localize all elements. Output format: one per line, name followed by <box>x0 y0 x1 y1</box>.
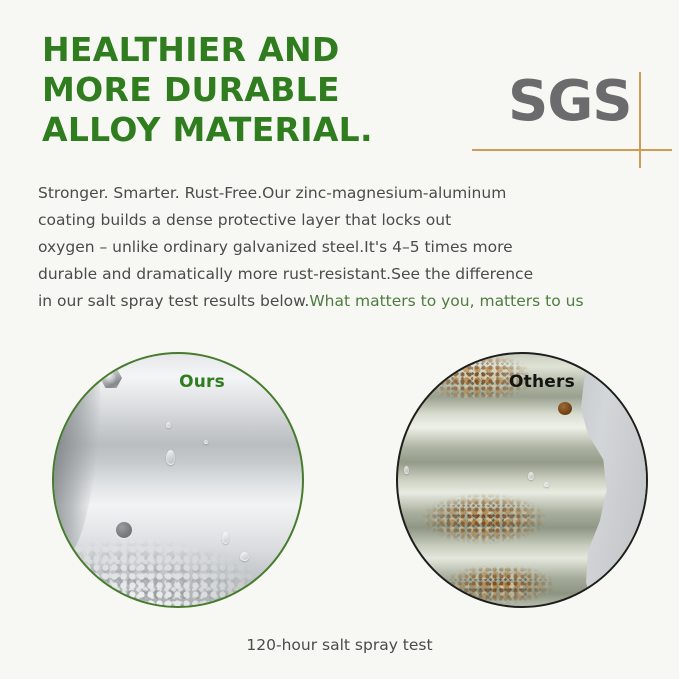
body-line-5: in our salt spray test results below.Wha… <box>38 288 638 315</box>
sgs-vertical-rule <box>639 72 641 168</box>
sample-disc-others: Others <box>396 352 648 608</box>
rust-spot <box>558 402 572 415</box>
comparison-panel: Ours Others <box>0 352 679 608</box>
rust-patch-middle <box>410 492 558 548</box>
body-line-2: coating builds a dense protective layer … <box>38 207 638 234</box>
water-droplet <box>528 472 534 480</box>
body-copy: Stronger. Smarter. Rust-Free.Our zinc-ma… <box>38 180 638 315</box>
body-line-1: Stronger. Smarter. Rust-Free.Our zinc-ma… <box>38 180 638 207</box>
rust-patch-bottom <box>442 566 562 608</box>
headline-line-1: HEALTHIER AND <box>42 30 462 70</box>
infographic-page: HEALTHIER AND MORE DURABLE ALLOY MATERIA… <box>0 0 679 679</box>
test-caption: 120-hour salt spray test <box>0 636 679 654</box>
disc-label-others: Others <box>398 372 648 392</box>
water-droplet <box>166 422 171 428</box>
water-droplet <box>204 440 208 444</box>
water-droplet <box>404 466 409 474</box>
sample-disc-ours: Ours <box>52 352 304 608</box>
condensation-droplets <box>54 514 302 606</box>
sgs-logo: SGS <box>472 72 672 154</box>
headline-line-2: MORE DURABLE <box>42 70 462 110</box>
water-droplet <box>166 450 175 465</box>
sgs-logo-text: SGS <box>508 72 632 132</box>
body-tagline-highlight: What matters to you, matters to us <box>309 292 583 310</box>
sgs-horizontal-rule <box>472 149 672 151</box>
page-title: HEALTHIER AND MORE DURABLE ALLOY MATERIA… <box>42 30 462 150</box>
headline-line-3: ALLOY MATERIAL. <box>42 110 462 150</box>
body-line-3: oxygen – unlike ordinary galvanized stee… <box>38 234 638 261</box>
body-line-4: durable and dramatically more rust-resis… <box>38 261 638 288</box>
water-droplet <box>544 482 549 487</box>
body-line-5-plain: in our salt spray test results below. <box>38 292 309 310</box>
disc-label-ours: Ours <box>54 372 304 392</box>
